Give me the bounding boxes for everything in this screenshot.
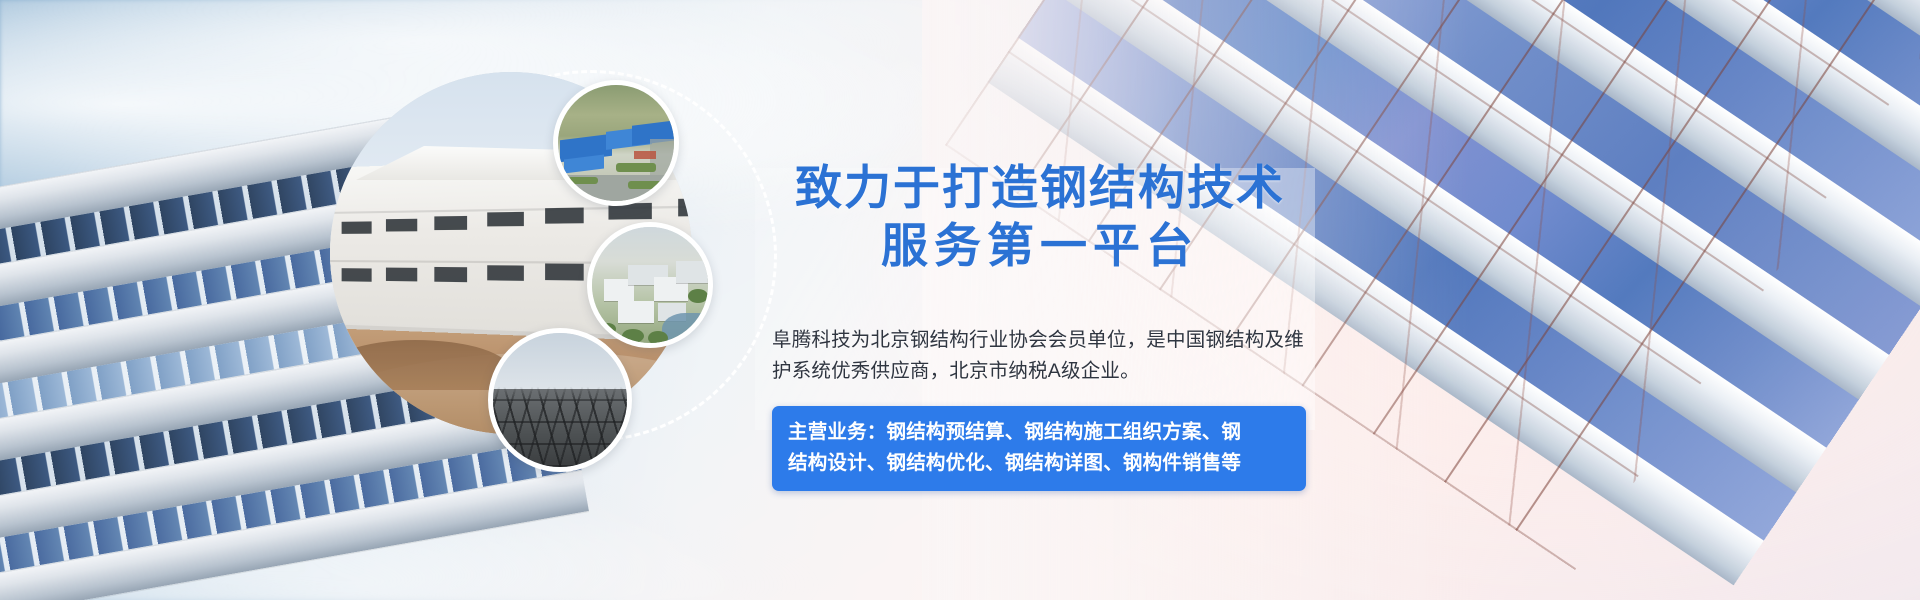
headline-line-2: 服务第一平台 (770, 218, 1310, 276)
headline-line-1: 致力于打造钢结构技术 (795, 161, 1285, 216)
business-line-2: 结构设计、钢结构优化、钢结构详图、钢构件销售等 (788, 448, 1290, 479)
headline: 致力于打造钢结构技术 服务第一平台 (770, 160, 1310, 276)
photo-industrial-campus (587, 222, 713, 348)
description: 阜腾科技为北京钢结构行业协会会员单位，是中国钢结构及维 护系统优秀供应商，北京市… (772, 325, 1306, 387)
description-line-1: 阜腾科技为北京钢结构行业协会会员单位，是中国钢结构及维 (772, 325, 1306, 356)
photo-steel-truss (488, 328, 632, 472)
photo-blue-roof-factory (553, 80, 679, 206)
hero-banner: 致力于打造钢结构技术 服务第一平台 阜腾科技为北京钢结构行业协会会员单位，是中国… (0, 0, 1920, 600)
description-line-2: 护系统优秀供应商，北京市纳税A级企业。 (772, 356, 1306, 387)
business-scope-badge: 主营业务：钢结构预结算、钢结构施工组织方案、钢 结构设计、钢结构优化、钢结构详图… (772, 406, 1306, 491)
business-line-1: 主营业务：钢结构预结算、钢结构施工组织方案、钢 (788, 417, 1290, 448)
